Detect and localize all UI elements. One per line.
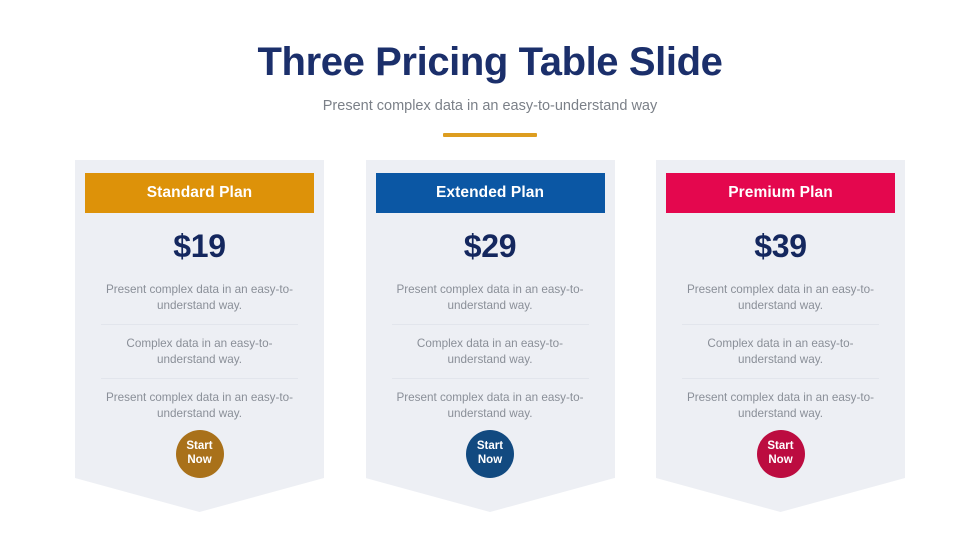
pricing-slide: Three Pricing Table Slide Present comple… (0, 0, 980, 551)
cta-wrap: Start Now (656, 430, 905, 478)
plan-name: Extended Plan (436, 184, 544, 202)
plan-header-band: Extended Plan (376, 173, 605, 213)
plan-price: $29 (464, 230, 517, 262)
feature-item: Complex data in an easy-to-understand wa… (392, 324, 589, 378)
feature-item: Present complex data in an easy-to-under… (101, 378, 298, 421)
pricing-card-standard[interactable]: Standard Plan $19 Present complex data i… (75, 160, 324, 512)
cta-wrap: Start Now (366, 430, 615, 478)
feature-list: Present complex data in an easy-to-under… (682, 282, 879, 421)
card-chevron-foot (366, 478, 615, 512)
plan-header-band: Standard Plan (85, 173, 314, 213)
page-title: Three Pricing Table Slide (0, 40, 980, 85)
card-body: Premium Plan $39 Present complex data in… (656, 160, 905, 478)
feature-item: Present complex data in an easy-to-under… (101, 282, 298, 324)
start-now-button[interactable]: Start Now (176, 430, 224, 478)
feature-list: Present complex data in an easy-to-under… (101, 282, 298, 421)
title-divider (443, 133, 537, 137)
plan-name: Premium Plan (728, 184, 833, 202)
feature-list: Present complex data in an easy-to-under… (392, 282, 589, 421)
plan-name: Standard Plan (147, 184, 253, 202)
feature-item: Present complex data in an easy-to-under… (392, 282, 589, 324)
cta-label-line2: Now (478, 454, 502, 468)
pricing-card-extended[interactable]: Extended Plan $29 Present complex data i… (366, 160, 615, 512)
page-subtitle: Present complex data in an easy-to-under… (0, 97, 980, 116)
pricing-card-premium[interactable]: Premium Plan $39 Present complex data in… (656, 160, 905, 512)
card-body: Extended Plan $29 Present complex data i… (366, 160, 615, 478)
slide-header: Three Pricing Table Slide Present comple… (0, 40, 980, 137)
card-body: Standard Plan $19 Present complex data i… (75, 160, 324, 478)
plan-price: $39 (754, 230, 807, 262)
start-now-button[interactable]: Start Now (466, 430, 514, 478)
cta-label-line2: Now (768, 454, 792, 468)
feature-item: Present complex data in an easy-to-under… (392, 378, 589, 421)
cta-label-line1: Start (186, 440, 212, 454)
cta-label-line2: Now (187, 454, 211, 468)
feature-item: Present complex data in an easy-to-under… (682, 282, 879, 324)
cta-label-line1: Start (477, 440, 503, 454)
feature-item: Complex data in an easy-to-understand wa… (682, 324, 879, 378)
start-now-button[interactable]: Start Now (757, 430, 805, 478)
plan-header-band: Premium Plan (666, 173, 895, 213)
pricing-cards-row: Standard Plan $19 Present complex data i… (75, 160, 905, 512)
card-chevron-foot (656, 478, 905, 512)
cta-wrap: Start Now (75, 430, 324, 478)
feature-item: Present complex data in an easy-to-under… (682, 378, 879, 421)
cta-label-line1: Start (767, 440, 793, 454)
card-chevron-foot (75, 478, 324, 512)
plan-price: $19 (173, 230, 226, 262)
feature-item: Complex data in an easy-to-understand wa… (101, 324, 298, 378)
